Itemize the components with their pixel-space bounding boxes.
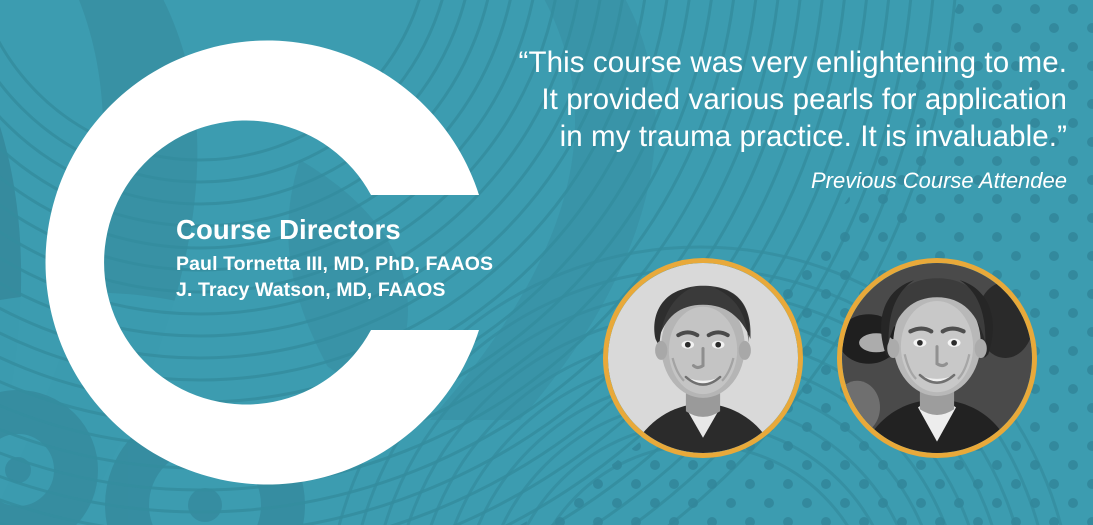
director-name-1: Paul Tornetta III, MD, PhD, FAAOS bbox=[176, 251, 493, 277]
portrait-tornetta-photo bbox=[608, 263, 798, 453]
course-directors-heading: Course Directors bbox=[176, 213, 493, 247]
course-promo-banner: “This course was very enlightening to me… bbox=[0, 0, 1093, 525]
director-name-2: J. Tracy Watson, MD, FAAOS bbox=[176, 277, 493, 303]
quote-attribution: Previous Course Attendee bbox=[447, 167, 1067, 195]
course-directors-block: Course Directors Paul Tornetta III, MD, … bbox=[176, 213, 493, 303]
course-directors-names: Paul Tornetta III, MD, PhD, FAAOS J. Tra… bbox=[176, 251, 493, 303]
quote-line-3: in my trauma practice. It is invaluable.… bbox=[447, 118, 1067, 155]
portrait-watson-photo bbox=[842, 263, 1032, 453]
testimonial-quote: “This course was very enlightening to me… bbox=[447, 44, 1067, 195]
portrait-watson bbox=[837, 258, 1037, 458]
quote-line-1: “This course was very enlightening to me… bbox=[447, 44, 1067, 81]
portrait-tornetta bbox=[603, 258, 803, 458]
quote-line-2: It provided various pearls for applicati… bbox=[447, 81, 1067, 118]
